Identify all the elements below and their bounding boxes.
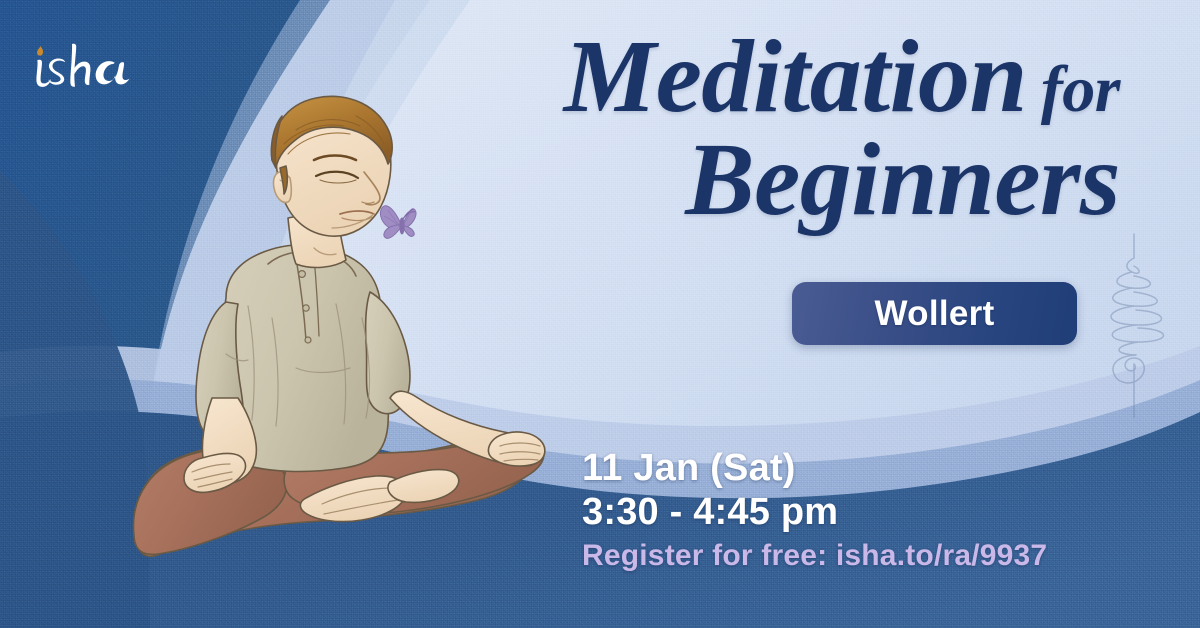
event-poster: Meditationfor Beginners Wollert 11 Jan (… — [0, 0, 1200, 628]
flame-icon — [37, 46, 43, 56]
title-line-2: Beginners — [420, 129, 1120, 232]
event-time: 3:30 - 4:45 pm — [582, 489, 1182, 535]
title-for-word: for — [1041, 53, 1120, 126]
isha-spiral-motif-icon — [1080, 228, 1188, 418]
spiral-motif-glyph — [1080, 228, 1188, 418]
location-badge-label: Wollert — [874, 294, 994, 334]
location-badge: Wollert — [792, 282, 1077, 345]
title-line-1: Meditationfor — [420, 26, 1120, 129]
title-main-word: Meditation — [564, 19, 1027, 134]
event-details: 11 Jan (Sat) 3:30 - 4:45 pm Register for… — [582, 448, 1182, 573]
event-date: 11 Jan (Sat) — [582, 448, 1182, 489]
register-link[interactable]: Register for free: isha.to/ra/9937 — [582, 539, 1182, 573]
page-title: Meditationfor Beginners — [420, 26, 1120, 232]
title-second-word: Beginners — [685, 122, 1120, 237]
